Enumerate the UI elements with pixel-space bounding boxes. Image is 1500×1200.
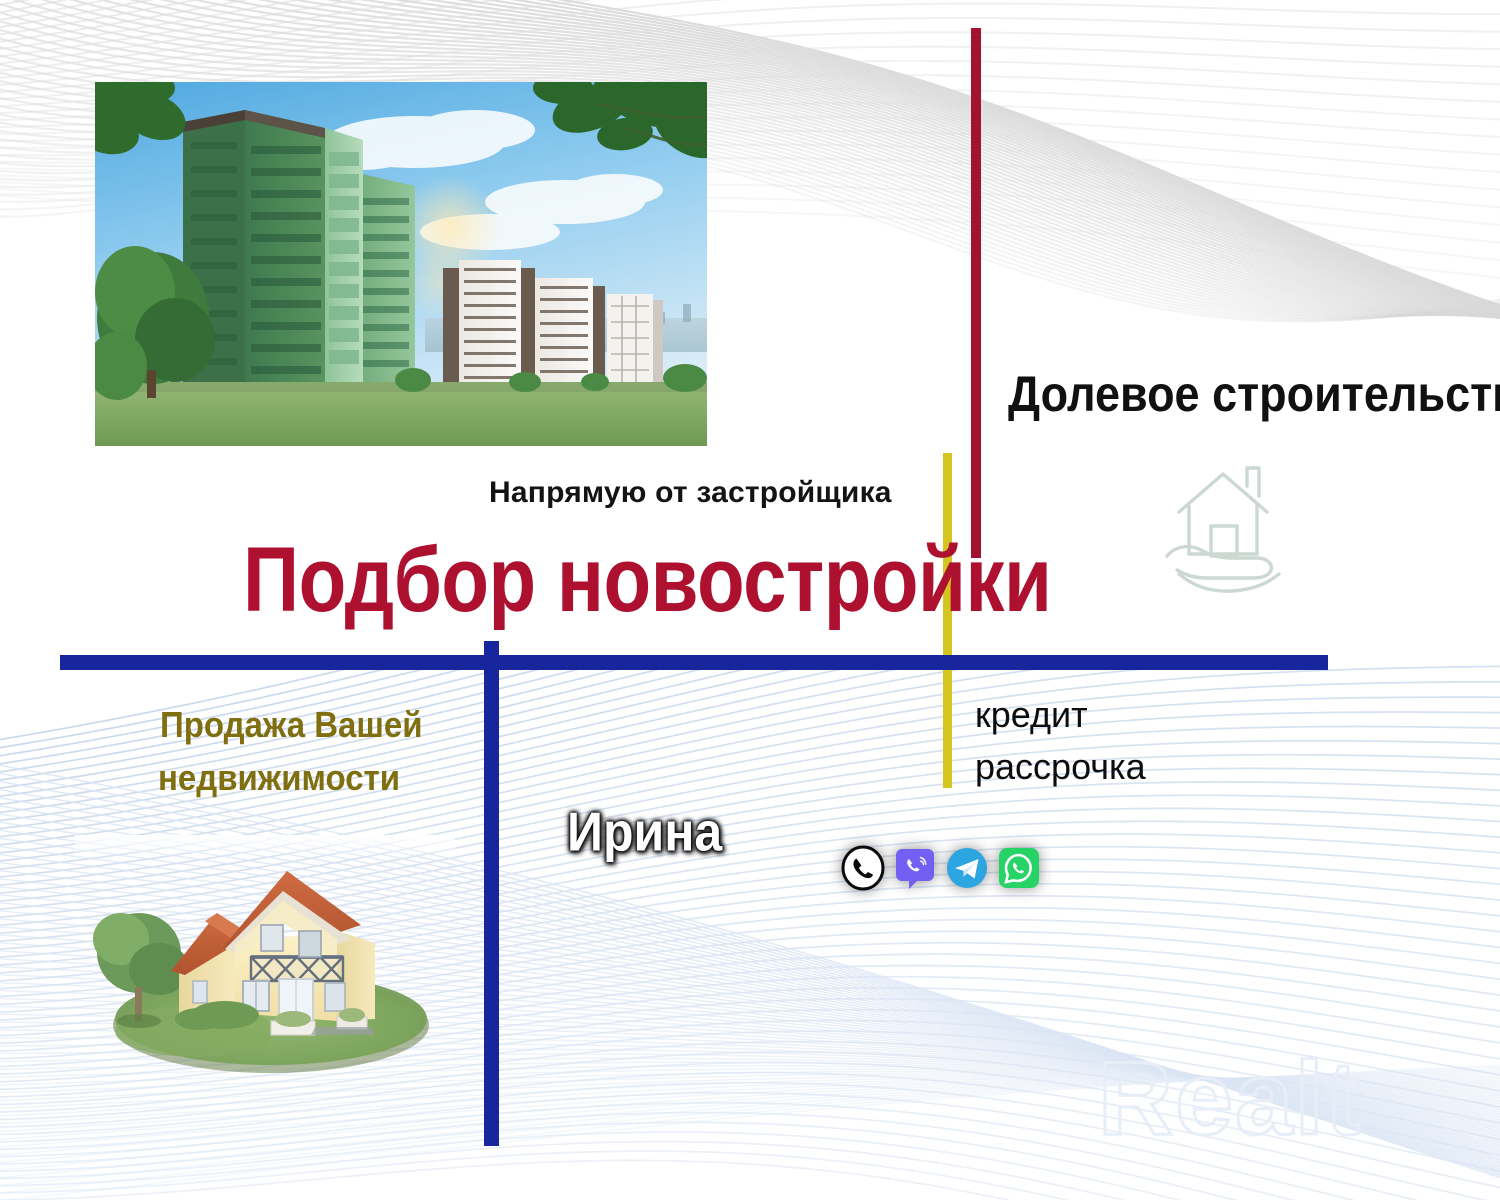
subtitle-direct-from-developer: Напрямую от застройщика [489, 476, 892, 510]
label-sell-property-line1: Продажа Вашей [160, 704, 423, 746]
realt-watermark: Realt [1090, 1030, 1500, 1170]
page-title: Подбор новостройки [243, 526, 1051, 633]
poster-canvas: Realt [0, 0, 1500, 1200]
telegram-icon[interactable] [944, 845, 990, 891]
private-house-photo [75, 835, 455, 1080]
label-sell-property-line2: недвижимости [158, 757, 400, 799]
whatsapp-icon[interactable] [996, 845, 1042, 891]
heading-equity-construction: Долевое строительство [1008, 365, 1500, 423]
agent-name: Ирина [567, 800, 722, 864]
contact-icons-row [840, 845, 1042, 891]
new-apartment-complex-render [95, 82, 707, 446]
hand-holding-house-icon [1145, 448, 1305, 598]
label-credit: кредит [975, 694, 1088, 736]
viber-icon[interactable] [892, 845, 938, 891]
divider-blue-vertical [484, 641, 499, 1146]
divider-blue-horizontal [60, 655, 1328, 670]
svg-text:Realt: Realt [1098, 1041, 1362, 1157]
label-installment: рассрочка [975, 746, 1146, 788]
phone-icon[interactable] [840, 845, 886, 891]
divider-red-vertical [971, 28, 981, 558]
